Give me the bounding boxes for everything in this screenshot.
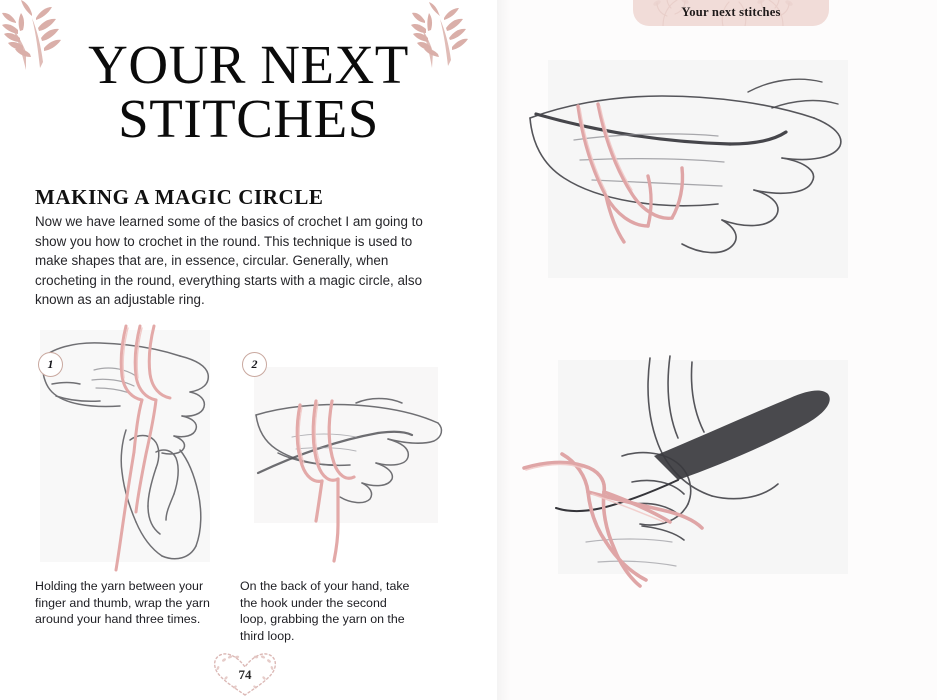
right-page: 3 Grab the yarn and pull it under the se… [497, 0, 937, 700]
step-1-badge: 1 [38, 352, 63, 377]
running-head-tab: Your next stitches [633, 0, 829, 26]
page-number-left: 74 [208, 648, 282, 700]
book-spread: YOUR NEXT STITCHES MAKING A MAGIC CIRCLE… [0, 0, 937, 700]
section-heading: MAKING A MAGIC CIRCLE [35, 185, 324, 210]
step-4-illustration [522, 352, 887, 602]
page-title: YOUR NEXT STITCHES [0, 38, 497, 147]
left-page: YOUR NEXT STITCHES MAKING A MAGIC CIRCLE… [0, 0, 497, 700]
step-2-illustration [238, 345, 453, 570]
page-title-line1: YOUR NEXT [88, 34, 409, 95]
step-1-caption: Holding the yarn between your finger and… [35, 578, 220, 628]
step-2-badge: 2 [242, 352, 267, 377]
running-head-label: Your next stitches [681, 0, 780, 20]
page-number-left-value: 74 [208, 648, 282, 700]
page-title-line2: STITCHES [0, 92, 497, 146]
step-2-caption: On the back of your hand, take the hook … [240, 578, 412, 644]
section-body-text: Now we have learned some of the basics o… [35, 212, 427, 310]
step-3-illustration [522, 48, 882, 298]
